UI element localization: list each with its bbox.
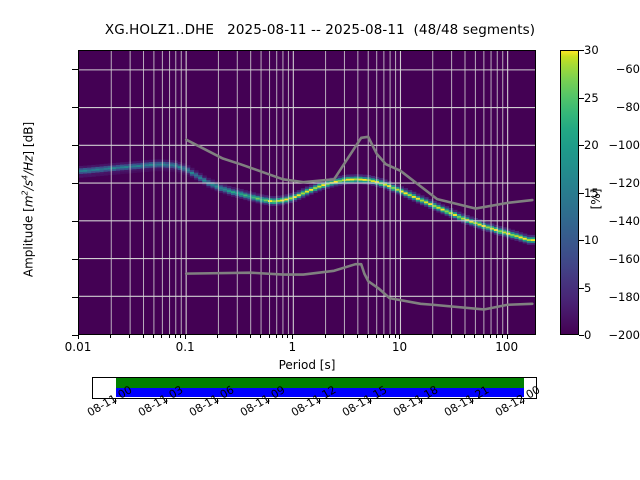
y-axis-unit-mid: /s [22, 180, 36, 190]
colorbar-tick-mark [579, 240, 584, 241]
x-axis-tick-label: 100 [495, 340, 518, 354]
page-title: XG.HOLZ1..DHE 2025-08-11 -- 2025-08-11 (… [0, 22, 640, 38]
colorbar-tick-label: 0 [584, 328, 591, 342]
x-axis-tick-mark [399, 335, 400, 339]
x-axis-tick-mark [376, 335, 377, 338]
y-axis-unit-m: m [22, 195, 36, 207]
colorbar-tick-label: 5 [584, 281, 591, 295]
y-axis-label-prefix: Amplitude [ [22, 207, 36, 277]
x-axis-tick-mark [395, 335, 396, 338]
x-axis-tick-mark [502, 335, 503, 338]
y-axis-tick-mark [72, 221, 78, 222]
x-axis-tick-mark [389, 335, 390, 338]
x-axis-tick-mark [292, 335, 293, 339]
x-axis-tick-mark [250, 335, 251, 338]
colorbar-tick-mark [579, 50, 584, 51]
x-axis-tick-mark [496, 335, 497, 338]
y-axis-unit-end: /Hz [22, 156, 36, 175]
x-axis-tick-mark [153, 335, 154, 338]
x-axis-tick-mark [343, 335, 344, 338]
x-axis-tick-mark [236, 335, 237, 338]
y-axis-unit-exp2: 4 [21, 175, 30, 180]
y-axis-tick-label: −200 [606, 328, 640, 342]
x-axis-tick-mark [483, 335, 484, 338]
ppsd-plot-area[interactable] [78, 50, 536, 335]
y-axis-tick-mark [72, 297, 78, 298]
x-axis-tick-mark [490, 335, 491, 338]
x-axis-tick-mark [432, 335, 433, 338]
y-axis-tick-label: −120 [606, 176, 640, 190]
x-axis-tick-mark [287, 335, 288, 338]
colorbar[interactable] [560, 50, 579, 335]
y-axis-tick-mark [72, 107, 78, 108]
colorbar-tick-mark [579, 288, 584, 289]
y-axis-tick-label: −180 [606, 290, 640, 304]
x-axis-tick-label: 0.1 [176, 340, 195, 354]
colorbar-tick-mark [579, 335, 584, 336]
x-axis-tick-mark [367, 335, 368, 338]
x-axis-tick-mark [507, 335, 508, 339]
y-axis-tick-label: −100 [606, 138, 640, 152]
x-axis-tick-mark [269, 335, 270, 338]
x-axis-tick-mark [143, 335, 144, 338]
y-axis-label: Amplitude [m2/s4/Hz] [dB] [21, 80, 36, 320]
y-axis-tick-label: −140 [606, 214, 640, 228]
x-axis-tick-mark [464, 335, 465, 338]
y-axis-tick-label: −160 [606, 252, 640, 266]
colorbar-tick-mark [579, 98, 584, 99]
y-axis-tick-mark [72, 259, 78, 260]
ppsd-canvas [79, 51, 535, 334]
y-axis-tick-mark [72, 183, 78, 184]
x-axis-tick-label: 10 [392, 340, 407, 354]
x-axis-tick-mark [185, 335, 186, 339]
x-axis-tick-mark [451, 335, 452, 338]
y-axis-tick-label: −60 [606, 62, 640, 76]
x-axis-tick-mark [129, 335, 130, 338]
ppsd-density-histogram [79, 51, 535, 334]
x-axis-tick-label: 0.01 [65, 340, 92, 354]
y-axis-tick-label: −80 [606, 100, 640, 114]
colorbar-tick-label: 25 [584, 91, 599, 105]
x-axis-tick-mark [357, 335, 358, 338]
x-axis-tick-mark [383, 335, 384, 338]
colorbar-tick-mark [579, 193, 584, 194]
colorbar-tick-label: 30 [584, 43, 599, 57]
x-axis-tick-mark [161, 335, 162, 338]
y-axis-unit-exp1: 2 [21, 190, 30, 195]
colorbar-label: [%] [589, 139, 603, 259]
x-axis-tick-mark [474, 335, 475, 338]
x-axis-tick-label: 1 [288, 340, 296, 354]
x-axis-label: Period [s] [78, 358, 536, 372]
x-axis-tick-mark [276, 335, 277, 338]
x-axis-tick-mark [325, 335, 326, 338]
y-axis-tick-mark [72, 145, 78, 146]
x-axis-tick-mark [282, 335, 283, 338]
y-axis-tick-mark [72, 69, 78, 70]
x-axis-tick-mark [110, 335, 111, 338]
x-axis-tick-mark [169, 335, 170, 338]
colorbar-tick-mark [579, 145, 584, 146]
y-axis-label-suffix: ] [dB] [22, 122, 36, 156]
x-axis-tick-mark [175, 335, 176, 338]
x-axis-tick-mark [180, 335, 181, 338]
x-axis-tick-mark [78, 335, 79, 339]
x-axis-tick-mark [217, 335, 218, 338]
x-axis-tick-mark [260, 335, 261, 338]
